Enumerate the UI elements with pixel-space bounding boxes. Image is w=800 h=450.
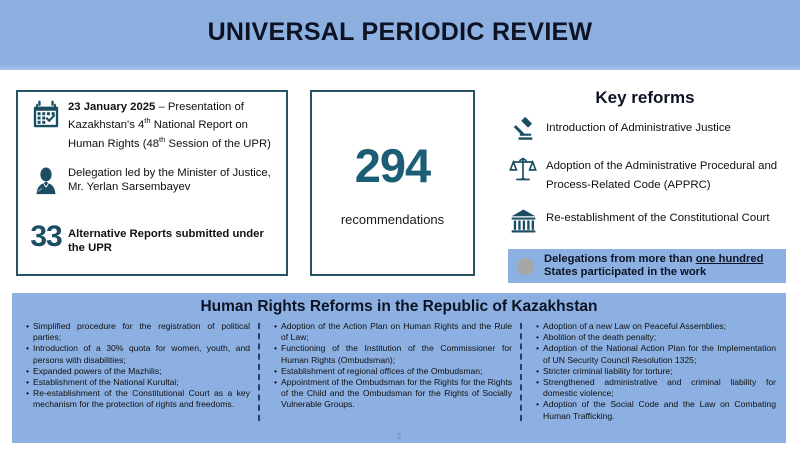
reforms-column-0: Simplified procedure for the registratio… bbox=[12, 321, 260, 439]
list-item: Adoption of the National Action Plan for… bbox=[536, 343, 776, 365]
header-band: UNIVERSAL PERIODIC REVIEW bbox=[0, 0, 800, 70]
fact-row-delegation: Delegation led by the Minister of Justic… bbox=[24, 166, 282, 196]
list-item: Adoption of the Social Code and the Law … bbox=[536, 399, 776, 421]
reforms-column-1: Adoption of the Action Plan on Human Rig… bbox=[260, 321, 522, 439]
list-item: Strengthened administrative and criminal… bbox=[536, 377, 776, 399]
delegations-callout: Delegations from more than one hundred S… bbox=[508, 249, 786, 283]
gavel-icon bbox=[500, 117, 546, 143]
delegations-callout-text: Delegations from more than one hundred S… bbox=[544, 253, 763, 280]
key-reform-label-0: Introduction of Administrative Justice bbox=[546, 117, 731, 138]
list-item: Adoption of the Action Plan on Human Rig… bbox=[274, 321, 512, 343]
list-item: Simplified procedure for the registratio… bbox=[26, 321, 250, 343]
delegations-underlined: one hundred bbox=[696, 253, 764, 265]
fact-date-text: 23 January 2025 – Presentation of Kazakh… bbox=[68, 100, 282, 151]
bottom-panel: Human Rights Reforms in the Republic of … bbox=[12, 293, 786, 443]
list-item: Introduction of a 30% quota for women, y… bbox=[26, 343, 250, 365]
recommendations-label: recommendations bbox=[341, 212, 444, 227]
list-item: Adoption of a new Law on Peaceful Assemb… bbox=[536, 321, 776, 332]
bullet-circle-icon bbox=[517, 258, 534, 275]
list-item: Functioning of the Institution of the Co… bbox=[274, 343, 512, 365]
delegations-line1-pre: Delegations from more than bbox=[544, 253, 696, 265]
key-reform-item-2: Re-establishment of the Constitutional C… bbox=[500, 207, 796, 234]
recommendations-number: 294 bbox=[355, 140, 430, 192]
page-title: UNIVERSAL PERIODIC REVIEW bbox=[0, 18, 800, 47]
key-reform-label-2: Re-establishment of the Constitutional C… bbox=[546, 207, 770, 228]
list-item: Re-establishment of the Constitutional C… bbox=[26, 388, 250, 410]
recommendations-box: 294 recommendations bbox=[310, 90, 475, 276]
list-item: Establishment of the National Kurultai; bbox=[26, 377, 250, 388]
reforms-list-0: Simplified procedure for the registratio… bbox=[26, 321, 250, 411]
fact-row-alternative-reports: 33 Alternative Reports submitted under t… bbox=[24, 222, 282, 255]
list-item: Establishment of regional offices of the… bbox=[274, 366, 512, 377]
courthouse-icon bbox=[500, 207, 546, 234]
key-reform-label-1: Adoption of the Administrative Procedura… bbox=[546, 155, 796, 195]
list-item: Stricter criminal liability for torture; bbox=[536, 366, 776, 377]
reforms-column-2: Adoption of a new Law on Peaceful Assemb… bbox=[522, 321, 786, 439]
delegate-person-icon bbox=[24, 166, 68, 196]
key-reforms-title: Key reforms bbox=[500, 88, 790, 108]
alternative-reports-text: Alternative Reports submitted under the … bbox=[68, 222, 282, 255]
delegations-line2: States participated in the work bbox=[544, 266, 706, 278]
key-reform-item-0: Introduction of Administrative Justice bbox=[500, 117, 796, 143]
calendar-check-icon bbox=[24, 100, 68, 130]
fact-row-date: 23 January 2025 – Presentation of Kazakh… bbox=[24, 100, 282, 151]
fact-date-bold: 23 January 2025 bbox=[68, 101, 155, 113]
key-reform-item-1: Adoption of the Administrative Procedura… bbox=[500, 155, 796, 195]
reforms-list-1: Adoption of the Action Plan on Human Rig… bbox=[274, 321, 512, 411]
list-item: Appointment of the Ombudsman for the Rig… bbox=[274, 377, 512, 411]
scales-icon bbox=[500, 155, 546, 183]
page-number: 2 bbox=[12, 432, 786, 441]
alternative-reports-number: 33 bbox=[24, 222, 68, 252]
bottom-columns: Simplified procedure for the registratio… bbox=[12, 321, 786, 439]
list-item: Expanded powers of the Mazhilis; bbox=[26, 366, 250, 377]
facts-box: 23 January 2025 – Presentation of Kazakh… bbox=[16, 90, 288, 276]
reforms-list-2: Adoption of a new Law on Peaceful Assemb… bbox=[536, 321, 776, 422]
fact-delegation-text: Delegation led by the Minister of Justic… bbox=[68, 166, 282, 194]
list-item: Abolition of the death penalty; bbox=[536, 332, 776, 343]
bottom-panel-title: Human Rights Reforms in the Republic of … bbox=[12, 298, 786, 316]
